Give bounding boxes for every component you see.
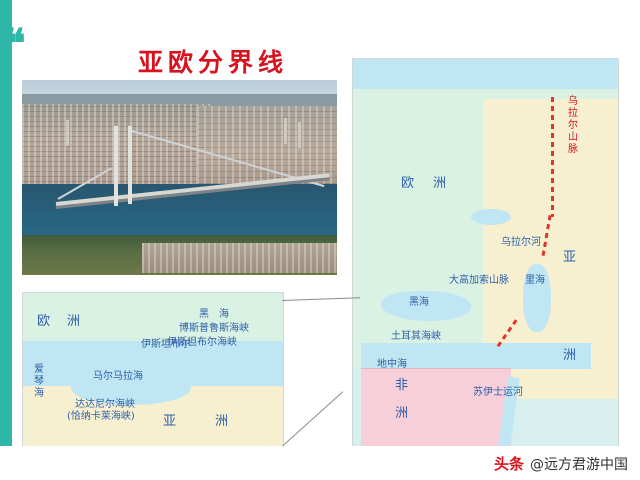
aral-sea xyxy=(471,209,511,225)
inset-label-dardanelles: 达达尼尔海峡 xyxy=(75,399,135,411)
label-caspian-sea: 里海 xyxy=(525,275,545,287)
label-suez-canal: 苏伊士运河 xyxy=(473,387,523,399)
inset-label-asia-2: 洲 xyxy=(215,415,230,430)
inset-label-europe-1: 欧 xyxy=(37,315,52,330)
label-africa-2: 洲 xyxy=(395,407,410,422)
africa-landmass xyxy=(361,368,511,447)
inset-connector-bottom xyxy=(282,391,344,447)
bridge-tower xyxy=(114,126,118,206)
inset-label-sea-of-marmara: 马尔马拉海 xyxy=(93,371,143,383)
map-bosphorus-inset: 欧 洲 亚 洲 黑 海 博斯普鲁斯海峡 伊斯坦布尔 伊斯坦布尔海峡 马尔马拉海 … xyxy=(22,292,284,449)
inset-connector-top xyxy=(282,297,360,301)
inset-label-europe-2: 洲 xyxy=(67,315,82,330)
slide-root: ❝ 亚欧分界线 乌拉尔山脉 xyxy=(0,0,640,480)
inset-label-asia-1: 亚 xyxy=(163,415,178,430)
label-mediterranean-sea: 地中海 xyxy=(377,359,407,371)
inset-label-bosphorus: 博斯普鲁斯海峡 xyxy=(179,323,249,335)
footer-bar: 头条 @远方君游中国 xyxy=(0,446,640,480)
watermark: 头条 @远方君游中国 xyxy=(494,453,628,474)
inset-label-aegean-sea: 爱琴海 xyxy=(31,363,43,399)
minaret-icon xyxy=(284,118,287,144)
bosphorus-bridge-photo xyxy=(22,80,337,275)
minaret-icon xyxy=(66,120,69,146)
left-accent-band xyxy=(0,0,22,480)
label-ural-mountains: 乌拉尔山脉 xyxy=(565,95,577,155)
author-handle: @远方君游中国 xyxy=(530,454,628,474)
map-eurasia: 乌拉尔山脉 欧 洲 亚 洲 非 洲 乌拉尔河 里海 黑海 大高加索山脉 土耳其海… xyxy=(352,58,619,448)
page-title-text: 亚欧分界线 xyxy=(138,43,288,79)
ural-boundary-line xyxy=(551,97,554,217)
label-turkish-straits: 土耳其海峡 xyxy=(391,331,441,343)
label-europe-2: 洲 xyxy=(433,177,448,192)
label-ural-river: 乌拉尔河 xyxy=(501,237,541,249)
inset-label-istanbul-strait: 伊斯坦布尔海峡 xyxy=(167,337,237,349)
label-black-sea: 黑海 xyxy=(409,297,429,309)
page-title: 亚欧分界线 xyxy=(88,42,338,80)
photo-foreground-town xyxy=(142,243,337,273)
label-europe-1: 欧 xyxy=(401,177,416,192)
label-asia-2: 洲 xyxy=(563,349,578,364)
quote-icon: ❝ xyxy=(4,24,26,64)
inset-label-canakkale-strait: (恰纳卡莱海峡) xyxy=(67,411,135,423)
bridge-tower xyxy=(128,126,132,204)
label-africa-1: 非 xyxy=(395,379,410,394)
label-greater-caucasus: 大高加索山脉 xyxy=(449,275,509,287)
inset-label-black-sea: 黑 海 xyxy=(199,309,229,321)
minaret-icon xyxy=(298,122,301,148)
label-asia-1: 亚 xyxy=(563,251,578,266)
toutiao-logo: 头条 xyxy=(494,453,524,474)
